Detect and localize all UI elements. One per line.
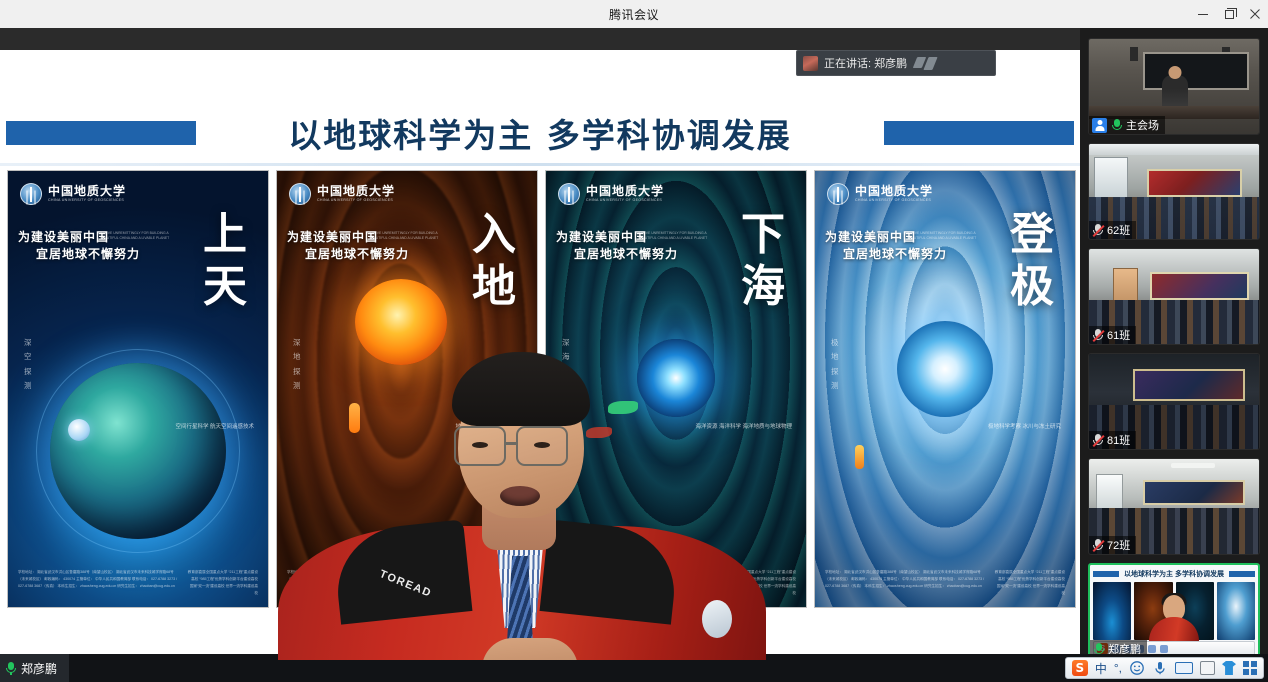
explorer-figure-icon [349,403,360,433]
poster-subtitle: 极地科学考察 冰川与冻土研究 [988,423,1061,433]
taskbar-app-label: 郑彦鹏 [21,660,57,677]
poster-shangtian: 中国地质大学 CHINA UNIVERSITY OF GEOSCIENCES 为… [7,170,269,608]
participant-tile-class-81[interactable]: 81班 [1088,353,1260,450]
speaker-avatar-icon [803,56,818,71]
window-title: 腾讯会议 [609,6,659,23]
poster-headline: 入地 [463,209,525,313]
minimize-button[interactable] [1190,0,1216,28]
participant-name: 61班 [1107,327,1130,343]
poster-footer-honors: 教育部直属全国重点大学 “211工程”重点建设高校 “985工程”优势学科创新平… [456,569,527,597]
participant-name: 81班 [1107,432,1130,448]
university-name-cn: 中国地质大学 [317,185,395,197]
participant-tile-class-72[interactable]: 72班 [1088,458,1260,555]
tile-label: 61班 [1089,326,1136,344]
university-logo: 中国地质大学 CHINA UNIVERSITY OF GEOSCIENCES [20,183,126,205]
slogan-line-2: 宜居地球不懈努力 [574,246,678,263]
poster-footer: 学校地址： 湖北省武汉市洪山区鲁磨路388号（南望山校区） 湖北省武汉市未来科技… [556,569,796,597]
sogou-ime-toolbar[interactable]: S 中 °, [1065,657,1264,679]
sogou-logo-icon[interactable]: S [1072,660,1088,676]
emoji-icon[interactable] [1129,660,1145,676]
poster-footer-honors: 教育部直属全国重点大学 “211工程”重点建设高校 “985工程”优势学科创新平… [725,569,796,597]
taskbar-active-app[interactable]: 郑彦鹏 [0,654,69,682]
microphone-icon[interactable] [1152,660,1168,676]
slogan-english: STRIVE UNREMITTINGLY FOR BUILDING A BEAU… [100,231,170,241]
slogan-line-2: 宜居地球不懈努力 [305,246,409,263]
poster-headline: 登极 [1001,209,1063,313]
tile-label: 81班 [1089,431,1136,449]
poster-slogan: 为建设美丽中国 宜居地球不懈努力 STRIVE UNREMITTINGLY FO… [287,229,409,264]
poster-footer: 学校地址： 湖北省武汉市洪山区鲁磨路388号（南望山校区） 湖北省武汉市未来科技… [18,569,258,597]
tile-label: 主会场 [1089,116,1165,134]
microphone-muted-icon [1092,329,1103,342]
soft-keyboard-icon[interactable] [1175,662,1193,674]
university-name-cn: 中国地质大学 [48,185,126,197]
earth-globe-graphic [50,363,226,539]
speaking-label: 正在讲话: 郑彦鹏 [824,55,907,71]
university-name-en: CHINA UNIVERSITY OF GEOSCIENCES [317,199,395,203]
participant-tile-class-62[interactable]: 62班 [1088,143,1260,240]
microphone-muted-icon [1092,434,1103,447]
participant-name: 72班 [1107,537,1130,553]
close-button[interactable] [1242,0,1268,28]
ocean-core-graphic [637,339,715,417]
stage-top-strip [0,28,1080,50]
poster-slogan: 为建设美丽中国 宜居地球不懈努力 STRIVE UNREMITTINGLY FO… [18,229,140,264]
host-badge-icon [1092,118,1107,133]
cug-emblem-icon [558,183,580,205]
slogan-english: STRIVE UNREMITTINGLY FOR BUILDING A BEAU… [638,231,708,241]
fish-icon [586,427,612,438]
fish-icon [608,401,638,414]
speaking-banner: 正在讲话: 郑彦鹏 [796,50,996,76]
meeting-window: 腾讯会议 正在讲话: 郑彦鹏 以地球科学为主 多学科协调发展 [0,0,1268,682]
ime-punctuation-mode[interactable]: °, [1114,661,1122,675]
shared-slide: 以地球科学为主 多学科协调发展 中国地质大学 CHINA UNIVERSITY … [0,50,1080,660]
microphone-muted-icon [1092,224,1103,237]
university-logo: 中国地质大学 CHINA UNIVERSITY OF GEOSCIENCES [827,183,933,205]
university-name-en: CHINA UNIVERSITY OF GEOSCIENCES [855,199,933,203]
poster-side-text: 深空探测 [24,336,35,393]
polar-core-graphic [897,321,993,417]
cug-emblem-icon [827,183,849,205]
magma-core-graphic [355,279,447,365]
skin-shirt-icon[interactable] [1222,661,1236,675]
participant-name: 62班 [1107,222,1130,238]
microphone-on-icon [1111,119,1122,132]
poster-dengji: 中国地质大学 CHINA UNIVERSITY OF GEOSCIENCES 为… [814,170,1076,608]
poster-footer: 学校地址： 湖北省武汉市洪山区鲁磨路388号（南望山校区） 湖北省武汉市未来科技… [287,569,527,597]
shared-screen-stage[interactable]: 正在讲话: 郑彦鹏 以地球科学为主 多学科协调发展 [0,28,1080,682]
poster-footer-contact: 学校地址： 湖北省武汉市洪山区鲁磨路388号（南望山校区） 湖北省武汉市未来科技… [18,569,177,597]
slogan-english: STRIVE UNREMITTINGLY FOR BUILDING A BEAU… [369,231,439,241]
tile-label: 62班 [1089,221,1136,239]
header-bar-right [884,121,1074,145]
microphone-on-icon [6,662,16,675]
participant-name: 主会场 [1126,117,1159,133]
slogan-line-2: 宜居地球不懈努力 [843,246,947,263]
poster-footer-honors: 教育部直属全国重点大学 “211工程”重点建设高校 “985工程”优势学科创新平… [187,569,258,597]
poster-subtitle: 地球深部探测 资源勘查工程 [455,423,523,433]
poster-side-text: 深地探测 [293,336,304,393]
participant-tile-class-61[interactable]: 61班 [1088,248,1260,345]
poster-footer-contact: 学校地址： 湖北省武汉市洪山区鲁磨路388号（南望山校区） 湖北省武汉市未来科技… [556,569,715,597]
poster-headline: 上天 [194,209,256,313]
poster-footer-contact: 学校地址： 湖北省武汉市洪山区鲁磨路388号（南望山校区） 湖北省武汉市未来科技… [825,569,984,597]
microphone-muted-icon [1092,539,1103,552]
mini-slide-title: 以地球科学为主 多学科协调发展 [1122,569,1226,579]
poster-slogan: 为建设美丽中国 宜居地球不懈努力 STRIVE UNREMITTINGLY FO… [556,229,678,264]
title-bar: 腾讯会议 [0,0,1268,28]
cug-emblem-icon [20,183,42,205]
poster-footer: 学校地址： 湖北省武汉市洪山区鲁磨路388号（南望山校区） 湖北省武汉市未来科技… [825,569,1065,597]
header-bar-left [6,121,196,145]
audio-wave-icon [915,57,935,70]
slide-header: 以地球科学为主 多学科协调发展 [0,104,1080,162]
cug-emblem-icon [289,183,311,205]
poster-side-text: 深海探测 [562,336,573,393]
university-logo: 中国地质大学 CHINA UNIVERSITY OF GEOSCIENCES [558,183,664,205]
slide-title: 以地球科学为主 多学科协调发展 [196,109,884,157]
toolbox-icon[interactable] [1200,661,1215,675]
participant-tile-active-speaker[interactable]: 以地球科学为主 多学科协调发展 S 郑彦鹏 [1088,563,1260,660]
ime-language-mode[interactable]: 中 [1095,660,1107,677]
poster-subtitle: 空间行星科学 航天空间遥感技术 [175,423,254,433]
slogan-english: STRIVE UNREMITTINGLY FOR BUILDING A BEAU… [907,231,977,241]
poster-footer-honors: 教育部直属全国重点大学 “211工程”重点建设高校 “985工程”优势学科创新平… [994,569,1065,597]
participant-tile-main-venue[interactable]: 主会场 [1088,38,1260,135]
tile-label: 72班 [1089,536,1136,554]
participant-filmstrip[interactable]: 主会场 62班 61班 [1080,28,1268,654]
university-name-cn: 中国地质大学 [855,185,933,197]
poster-subtitle: 海洋资源 海洋科学 海洋地质与地球物理 [695,423,792,433]
window-controls [1190,0,1268,28]
slogan-line-2: 宜居地球不懈努力 [36,246,140,263]
climber-figure-icon [855,445,864,469]
poster-headline: 下海 [732,209,794,313]
satellite-icon [68,419,90,441]
taskbar: 郑彦鹏 S 中 °, [0,654,1268,682]
header-underline [0,163,1080,166]
university-logo: 中国地质大学 CHINA UNIVERSITY OF GEOSCIENCES [289,183,395,205]
university-name-en: CHINA UNIVERSITY OF GEOSCIENCES [586,199,664,203]
poster-xiahai: 中国地质大学 CHINA UNIVERSITY OF GEOSCIENCES 为… [545,170,807,608]
university-name-en: CHINA UNIVERSITY OF GEOSCIENCES [48,199,126,203]
university-name-cn: 中国地质大学 [586,185,664,197]
poster-rudi: 中国地质大学 CHINA UNIVERSITY OF GEOSCIENCES 为… [276,170,538,608]
poster-slogan: 为建设美丽中国 宜居地球不懈努力 STRIVE UNREMITTINGLY FO… [825,229,947,264]
grid-menu-icon[interactable] [1243,661,1257,675]
poster-footer-contact: 学校地址： 湖北省武汉市洪山区鲁磨路388号（南望山校区） 湖北省武汉市未来科技… [287,569,446,597]
restore-button[interactable] [1216,0,1242,28]
poster-side-text: 极地探测 [831,336,842,393]
poster-row: 中国地质大学 CHINA UNIVERSITY OF GEOSCIENCES 为… [0,170,1080,608]
